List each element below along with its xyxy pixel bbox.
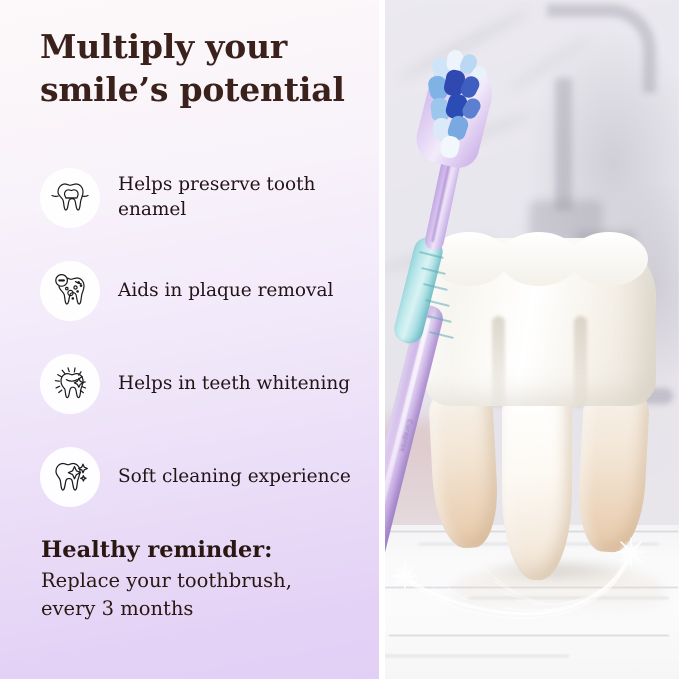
list-item-label: Helps in teeth whitening [118, 372, 350, 397]
healthy-reminder: Healthy reminder: Replace your toothbrus… [41, 536, 361, 623]
reminder-title: Healthy reminder: [41, 536, 361, 564]
list-item: Aids in plaque removal [40, 256, 375, 326]
tooth-whitening-icon [40, 354, 100, 414]
list-item-label: Soft cleaning experience [118, 465, 351, 490]
list-item-label: Helps preserve tooth enamel [118, 173, 370, 222]
feature-list: Helps preserve tooth enamel [40, 163, 375, 535]
product-photo: Curaprox [379, 0, 679, 679]
tooth-enamel-icon [40, 168, 100, 228]
tooth-plaque-removal-icon [40, 261, 100, 321]
headline-line-1: Multiply your [40, 26, 370, 69]
left-info-panel: Multiply your smile’s potential Helps pr… [0, 0, 379, 679]
reminder-line-1: Replace your toothbrush, [41, 567, 361, 595]
photo-canvas: Curaprox [379, 0, 679, 679]
product-infographic: Multiply your smile’s potential Helps pr… [0, 0, 679, 679]
page-title: Multiply your smile’s potential [40, 26, 370, 112]
reminder-line-2: every 3 months [41, 595, 361, 623]
tooth-sparkle-icon [40, 447, 100, 507]
panel-divider [379, 0, 385, 679]
toothbrush: Curaprox [407, 28, 647, 588]
list-item: Helps preserve tooth enamel [40, 163, 375, 233]
list-item-label: Aids in plaque removal [118, 279, 333, 304]
list-item: Helps in teeth whitening [40, 349, 375, 419]
headline-line-2: smile’s potential [40, 69, 370, 112]
list-item: Soft cleaning experience [40, 442, 375, 512]
